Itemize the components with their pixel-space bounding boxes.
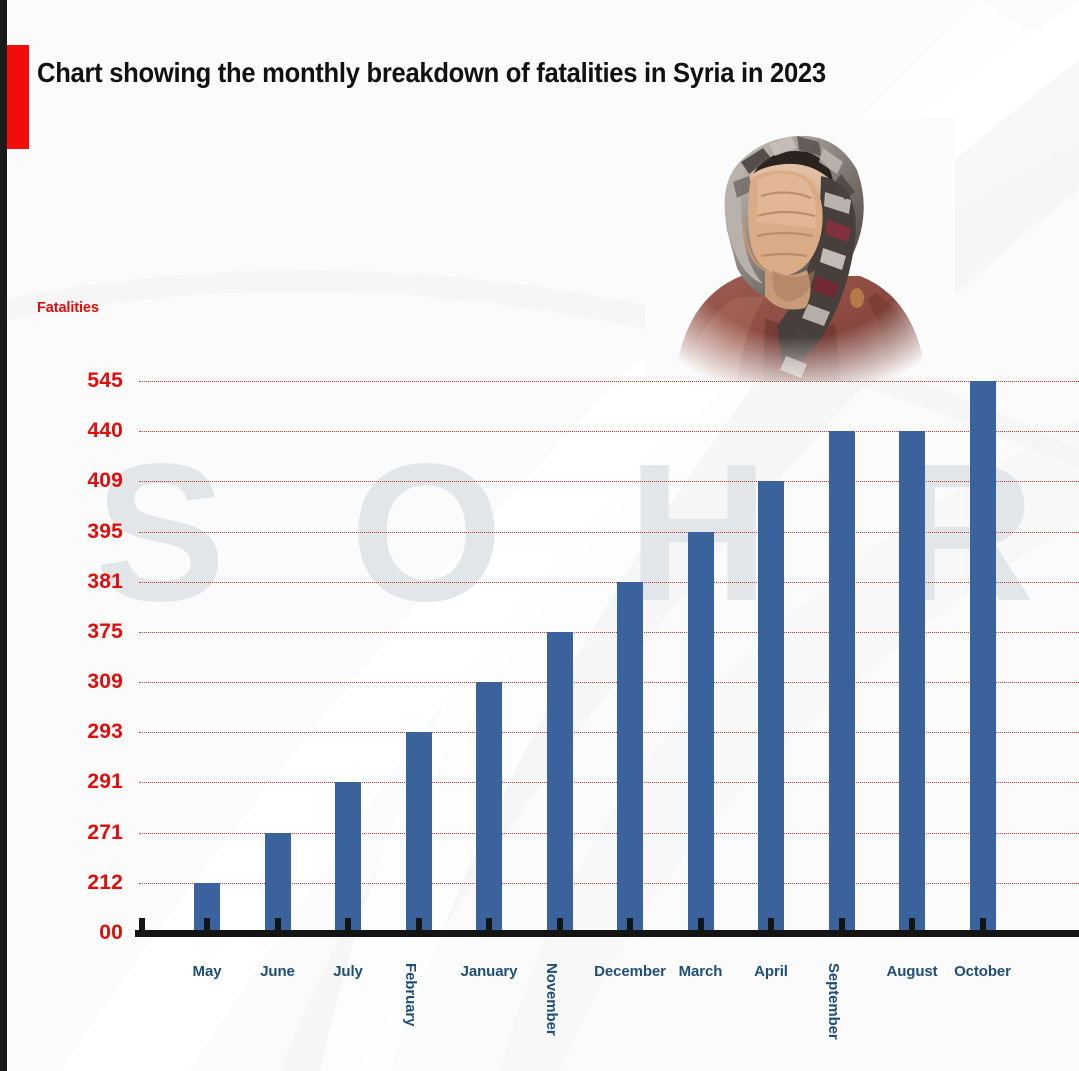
bar[interactable] (899, 431, 925, 933)
y-tick-label: 545 (87, 369, 123, 393)
y-tick-label: 395 (87, 520, 123, 544)
y-tick-label: 00 (99, 921, 123, 945)
bar[interactable] (476, 682, 502, 933)
y-tick-label: 212 (87, 871, 123, 895)
y-axis-title: Fatalities (37, 300, 99, 316)
left-edge-strip (0, 0, 7, 1071)
x-tick-label: July (333, 963, 363, 980)
x-tick-label: August (886, 963, 937, 980)
infographic-page: S O H R (0, 0, 1079, 1071)
gridline (139, 632, 1079, 633)
title-accent-bar (7, 45, 29, 149)
gridline (139, 381, 1079, 382)
x-tick-label: March (679, 963, 723, 980)
bar[interactable] (406, 732, 432, 933)
gridline (139, 682, 1079, 683)
y-tick-label: 409 (87, 469, 123, 493)
gridline (139, 532, 1079, 533)
bar[interactable] (758, 481, 784, 933)
x-axis-line (135, 930, 1079, 937)
y-tick-label: 291 (87, 770, 123, 794)
x-tick-label: February (402, 963, 419, 1026)
gridline (139, 782, 1079, 783)
x-tick-label: May (193, 963, 222, 980)
bar[interactable] (335, 782, 361, 933)
bar[interactable] (970, 381, 996, 933)
y-tick-label: 440 (87, 419, 123, 443)
bar[interactable] (617, 582, 643, 933)
bar[interactable] (688, 532, 714, 933)
x-tick-label: January (461, 963, 518, 980)
y-axis-tick-labels: 54544040939538137530929329127121200 (0, 0, 135, 1071)
y-tick-label: 309 (87, 670, 123, 694)
gridline (139, 481, 1079, 482)
bar[interactable] (829, 431, 855, 933)
y-tick-label: 381 (87, 570, 123, 594)
y-axis-origin-cap (139, 918, 145, 932)
gridline (139, 582, 1079, 583)
bar[interactable] (547, 632, 573, 933)
x-tick-label: November (543, 963, 560, 1036)
gridline (139, 431, 1079, 432)
x-tick-label: June (260, 963, 295, 980)
grieving-woman-photo (645, 118, 955, 381)
y-tick-label: 271 (87, 821, 123, 845)
page-title: Chart showing the monthly breakdown of f… (37, 57, 902, 89)
x-tick-label: October (954, 963, 1011, 980)
gridline (139, 732, 1079, 733)
y-tick-label: 293 (87, 720, 123, 744)
x-tick-label: September (825, 963, 842, 1040)
x-tick-label: April (754, 963, 788, 980)
x-tick-label: December (594, 963, 666, 980)
y-tick-label: 375 (87, 620, 123, 644)
